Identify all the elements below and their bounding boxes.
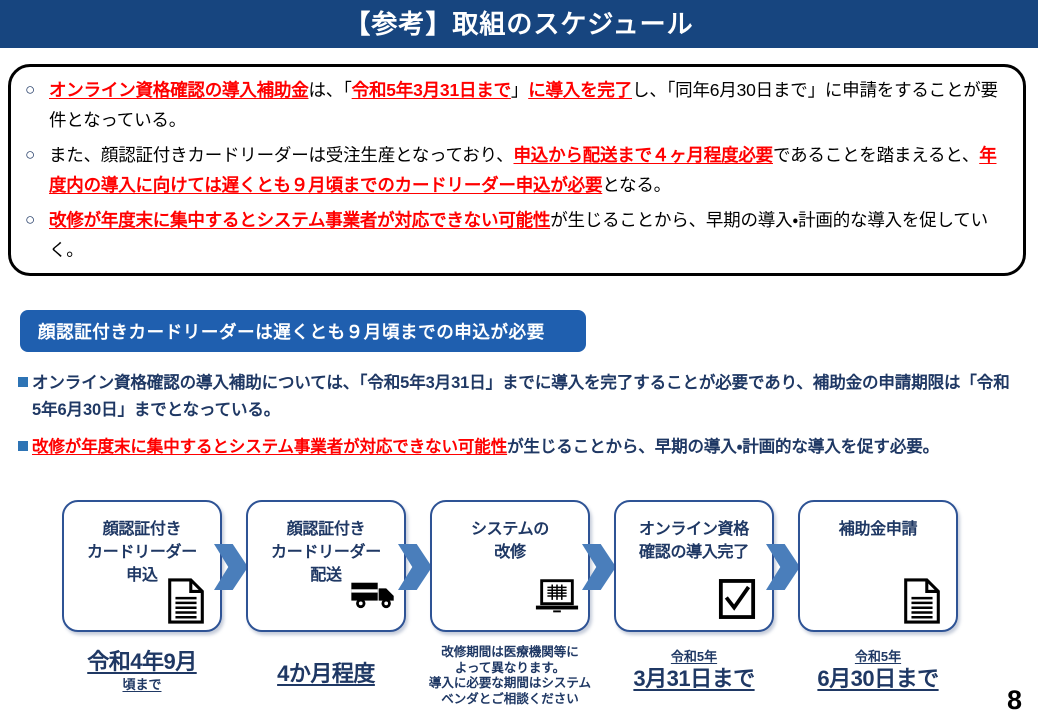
highlighted-text: に導入を完了 bbox=[528, 80, 632, 100]
section-banner: 顔認証付きカードリーダーは遅くとも９月頃までの申込が必要 bbox=[20, 310, 586, 352]
step-label: オンライン資格確認の導入完了 bbox=[616, 518, 772, 564]
note-item: ○オンライン資格確認の導入補助金は、「令和5年3月31日まで」に導入を完了し、「… bbox=[25, 75, 1009, 135]
highlighted-text: オンライン資格確認の導入補助金 bbox=[49, 80, 309, 100]
checkbox-icon bbox=[718, 578, 760, 624]
square-bullet-icon bbox=[18, 377, 32, 387]
step-online-verification-done-caption: 令和5年3月31日まで bbox=[604, 648, 784, 693]
step-system-upgrade[interactable]: システムの改修 bbox=[430, 500, 590, 632]
note-item: ○また、顔認証付きカードリーダーは受注生産となっており、申込から配送まで４ヶ月程… bbox=[25, 140, 1009, 200]
square-bullet-icon bbox=[18, 441, 32, 451]
step-online-verification-done[interactable]: オンライン資格確認の導入完了 bbox=[614, 500, 774, 632]
caption-note-line: 改修期間は医療機関等に bbox=[412, 645, 608, 661]
plain-text: また、顔認証付きカードリーダーは受注生産となっており、 bbox=[49, 145, 513, 165]
step-application[interactable]: 顔認証付きカードリーダー申込 bbox=[62, 500, 222, 632]
page-title: 【参考】取組のスケジュール bbox=[344, 11, 693, 37]
note-item-text: また、顔認証付きカードリーダーは受注生産となっており、申込から配送まで４ヶ月程度… bbox=[49, 140, 1009, 200]
highlighted-text: 改修が年度末に集中するとシステム事業者が対応できない可能性 bbox=[49, 210, 550, 230]
plain-text: 」 bbox=[511, 80, 528, 100]
step-label: 補助金申請 bbox=[800, 518, 956, 541]
note-item: ○改修が年度末に集中するとシステム事業者が対応できない可能性が生じることから、早… bbox=[25, 205, 1009, 265]
caption-big-text: 4か月程度 bbox=[236, 660, 416, 688]
slide-title-bar: 【参考】取組のスケジュール bbox=[0, 0, 1038, 48]
plain-text: であることを踏まえると、 bbox=[773, 145, 979, 165]
step-label: システムの改修 bbox=[432, 518, 588, 564]
step-label: 顔認証付きカードリーダー申込 bbox=[64, 518, 220, 587]
plain-text: が生じることから、早期の導入・計画的な導入を促す必要。 bbox=[507, 438, 939, 456]
caption-note-line: よって異なります。 bbox=[412, 661, 608, 677]
note-item-text: オンライン資格確認の導入補助金は、「令和5年3月31日まで」に導入を完了し、「同… bbox=[49, 75, 1009, 135]
laptop-icon bbox=[534, 578, 576, 624]
plain-text: オンライン資格確認の導入補助については、「令和5年3月31日」までに導入を完了す… bbox=[32, 374, 1010, 419]
circle-bullet-icon: ○ bbox=[25, 75, 49, 105]
caption-big-text: 令和4年9月 bbox=[52, 648, 232, 676]
step-delivery-caption: 4か月程度 bbox=[236, 660, 416, 688]
step-system-upgrade-caption: 改修期間は医療機関等によって異なります。導入に必要な期間はシステムベンダとご相談… bbox=[412, 645, 608, 707]
caption-big-text: 6月30日まで bbox=[788, 665, 968, 693]
document-icon bbox=[902, 578, 944, 624]
note-item-text: 改修が年度末に集中するとシステム事業者が対応できない可能性が生じることから、早期… bbox=[49, 205, 1009, 265]
step-delivery[interactable]: 顔認証付きカードリーダー配送 bbox=[246, 500, 406, 632]
caption-small-text: 令和5年 bbox=[788, 648, 968, 665]
list-item: 改修が年度末に集中するとシステム事業者が対応できない可能性が生じることから、早期… bbox=[18, 434, 1018, 461]
truck-icon bbox=[350, 578, 392, 624]
caption-note-line: 導入に必要な期間はシステム bbox=[412, 676, 608, 692]
caption-small-text: 頃まで bbox=[52, 676, 232, 693]
section-banner-label: 顔認証付きカードリーダーは遅くとも９月頃までの申込が必要 bbox=[38, 319, 545, 344]
step-label: 顔認証付きカードリーダー配送 bbox=[248, 518, 404, 587]
highlighted-text: 改修が年度末に集中するとシステム事業者が対応できない可能性 bbox=[32, 438, 507, 456]
highlighted-text: 令和5年3月31日まで bbox=[352, 80, 511, 100]
list-item-text: オンライン資格確認の導入補助については、「令和5年3月31日」までに導入を完了す… bbox=[32, 370, 1018, 424]
highlighted-text: 申込から配送まで４ヶ月程度必要 bbox=[513, 145, 773, 165]
caption-note-line: ベンダとご相談ください bbox=[412, 692, 608, 708]
list-item: オンライン資格確認の導入補助については、「令和5年3月31日」までに導入を完了す… bbox=[18, 370, 1018, 424]
circle-bullet-icon: ○ bbox=[25, 205, 49, 235]
caption-small-text: 令和5年 bbox=[604, 648, 784, 665]
list-item-text: 改修が年度末に集中するとシステム事業者が対応できない可能性が生じることから、早期… bbox=[32, 434, 1018, 461]
step-subsidy-application[interactable]: 補助金申請 bbox=[798, 500, 958, 632]
plain-text: は、「 bbox=[309, 80, 352, 100]
caption-big-text: 3月31日まで bbox=[604, 665, 784, 693]
process-flow: 顔認証付きカードリーダー申込顔認証付きカードリーダー配送システムの改修オンライン… bbox=[0, 498, 1038, 638]
plain-text: となる。 bbox=[602, 175, 671, 195]
page-number: 8 bbox=[1007, 685, 1022, 716]
step-application-caption: 令和4年9月頃まで bbox=[52, 648, 232, 693]
step-subsidy-application-caption: 令和5年6月30日まで bbox=[788, 648, 968, 693]
summary-note-box: ○オンライン資格確認の導入補助金は、「令和5年3月31日まで」に導入を完了し、「… bbox=[8, 64, 1026, 276]
document-icon bbox=[166, 578, 208, 624]
circle-bullet-icon: ○ bbox=[25, 140, 49, 170]
bullet-list: オンライン資格確認の導入補助については、「令和5年3月31日」までに導入を完了す… bbox=[18, 370, 1018, 471]
